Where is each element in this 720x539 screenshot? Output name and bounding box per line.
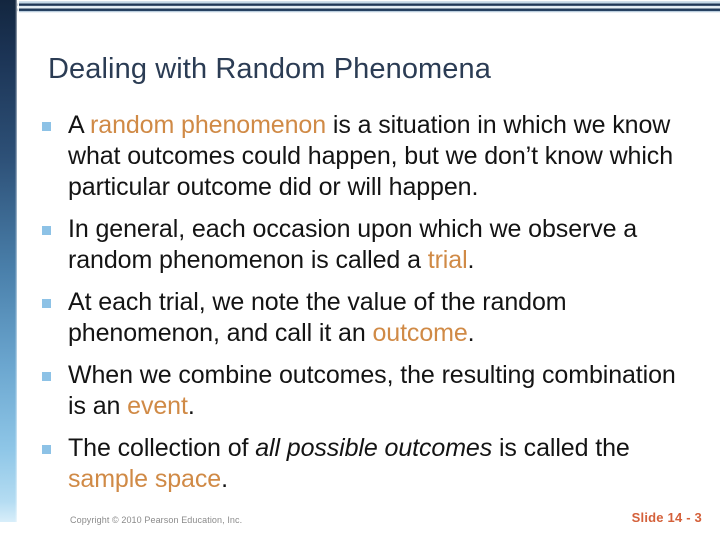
bullet-item: In general, each occasion upon which we … [42, 214, 692, 276]
bullet-text-run: At each trial, we note the value of the … [68, 288, 566, 347]
bullet-outcome: At each trial, we note the value of the … [68, 287, 692, 349]
bullet-item: A random phenomenon is a situation in wh… [42, 110, 692, 203]
left-accent-bar-fade [15, 0, 19, 522]
highlighted-term: random phenomenon [90, 111, 326, 139]
bullet-text-run: is called the [492, 434, 630, 462]
bullet-sample-space: The collection of all possible outcomes … [68, 433, 692, 495]
bullet-text-run: . [468, 319, 475, 347]
emphasized-term: all possible outcomes [255, 434, 492, 462]
presentation-slide: Dealing with Random Phenomena A random p… [0, 0, 720, 539]
bullet-event: When we combine outcomes, the resulting … [68, 360, 692, 422]
bullet-text-run: . [188, 392, 195, 420]
bullet-trial: In general, each occasion upon which we … [68, 214, 692, 276]
bullet-square-icon [42, 445, 51, 454]
bullet-text-run: . [468, 246, 475, 274]
bullet-square-icon [42, 122, 51, 131]
highlighted-term: sample space [68, 465, 221, 493]
highlighted-term: outcome [372, 319, 467, 347]
bullet-item: At each trial, we note the value of the … [42, 287, 692, 349]
slide-number-label: Slide 14 - 3 [632, 510, 702, 526]
bullet-text-run: . [221, 465, 228, 493]
bullet-square-icon [42, 299, 51, 308]
bullet-item: When we combine outcomes, the resulting … [42, 360, 692, 422]
slide-title: Dealing with Random Phenomena [48, 52, 688, 86]
bullet-text-run: The collection of [68, 434, 255, 462]
bullet-text-run: In general, each occasion upon which we … [68, 215, 637, 274]
bullet-text-run: A [68, 111, 90, 139]
bullet-random-phenomenon: A random phenomenon is a situation in wh… [68, 110, 692, 203]
bullet-item: The collection of all possible outcomes … [42, 433, 692, 495]
highlighted-term: event [127, 392, 188, 420]
bullet-list: A random phenomenon is a situation in wh… [42, 110, 692, 506]
bullet-square-icon [42, 226, 51, 235]
copyright-notice: Copyright © 2010 Pearson Education, Inc. [70, 514, 242, 526]
highlighted-term: trial [428, 246, 468, 274]
top-border-decoration [17, 0, 720, 15]
bullet-square-icon [42, 372, 51, 381]
